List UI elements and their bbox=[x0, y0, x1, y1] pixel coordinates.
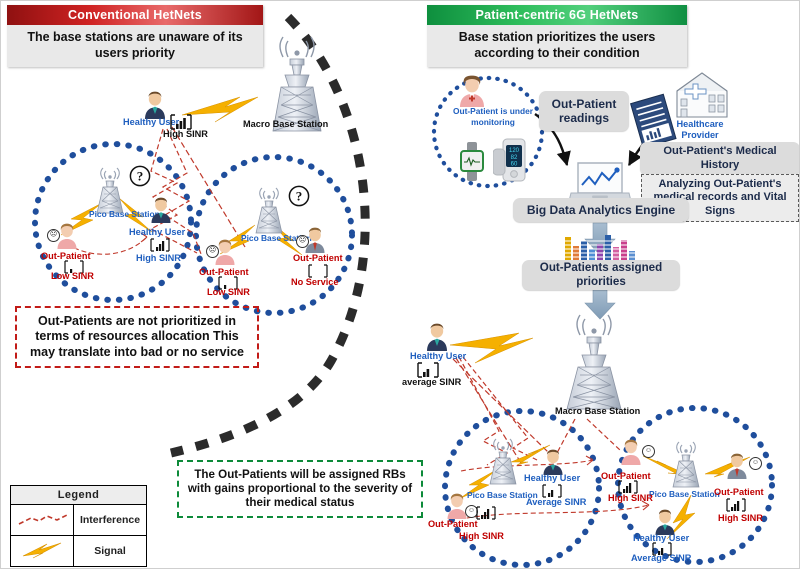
right-cell-c-pico-tower bbox=[486, 438, 520, 491]
left-top-healthy-user-avatar bbox=[142, 91, 168, 119]
right-cell-d-healthy-user-avatar bbox=[653, 509, 677, 535]
analytics-engine-box: Big Data Analytics Engine bbox=[513, 198, 689, 222]
right-cell-d-outpatient-2-avatar bbox=[725, 453, 749, 479]
left-cell-a-outpatient-sad-face-icon: ☹ bbox=[47, 229, 60, 242]
medical-history-box: Out-Patient's Medical History bbox=[640, 142, 800, 175]
right-cell-c-outpatient-signal-bars-icon bbox=[475, 505, 497, 526]
legend-title: Legend bbox=[11, 486, 146, 505]
left-cell-a-question-icon: ? bbox=[129, 165, 151, 192]
right-panel-header: Patient-centric 6G HetNets Base station … bbox=[427, 5, 687, 67]
smartwatch-device-icon bbox=[459, 141, 485, 186]
right-cell-d-outpatient-2-happy-face-icon: ☺ bbox=[749, 457, 762, 470]
interference-line-icon bbox=[11, 505, 74, 535]
right-cell-d-healthy-sinr-label: Average SINR bbox=[631, 553, 691, 563]
right-top-user-sinr-label: average SINR bbox=[402, 377, 461, 387]
blood-pressure-monitor-icon: 120 82 60 bbox=[493, 137, 527, 188]
right-cell-c-healthy-user-avatar bbox=[541, 449, 565, 475]
right-panel-title: Patient-centric 6G HetNets bbox=[427, 5, 687, 25]
outpatient-readings-box: Out-Patient readings bbox=[539, 91, 629, 131]
healthcare-provider-building-icon bbox=[673, 69, 731, 126]
right-cell-d-outpatient-1-sinr-label: High SINR bbox=[608, 493, 653, 503]
signal-lightning-icon bbox=[11, 536, 74, 566]
left-top-user-sinr-label: High SINR bbox=[163, 129, 208, 139]
right-top-healthy-user-label: Healthy User bbox=[410, 351, 466, 361]
right-cell-d-outpatient-1-avatar bbox=[619, 439, 643, 465]
left-cell-b-outpatient-2-sinr-label: No Service bbox=[291, 277, 339, 287]
healthcare-provider-label: Healthcare Provider bbox=[669, 119, 731, 141]
left-cell-a-healthy-user-label: Healthy User bbox=[129, 227, 185, 237]
left-cell-a-outpatient-sinr-label: Low SINR bbox=[51, 271, 94, 281]
monitoring-label: Out-Patient is under monitoring bbox=[450, 106, 536, 127]
right-callout-box: The Out-Patients will be assigned RBs wi… bbox=[177, 460, 423, 518]
right-cell-c-boundary bbox=[445, 411, 599, 565]
left-cell-b-outpatient-1-sad-face-icon: ☹ bbox=[206, 245, 219, 258]
legend-interference-label: Interference bbox=[74, 505, 146, 535]
left-panel-title: Conventional HetNets bbox=[7, 5, 263, 25]
left-panel-header: Conventional HetNets The base stations a… bbox=[7, 5, 263, 67]
right-cell-d-outpatient-1-happy-face-icon: ☺ bbox=[642, 445, 655, 458]
left-cell-b-question-icon: ? bbox=[288, 185, 310, 212]
legend-box: Legend Interference Signal bbox=[10, 485, 147, 567]
right-cell-c-outpatient-sinr-label: High SINR bbox=[459, 531, 504, 541]
bp-systolic-value: 120 bbox=[509, 148, 520, 154]
monitoring-nurse-avatar bbox=[457, 75, 487, 107]
left-cell-b-outpatient-2-sad-face-icon: ☹ bbox=[296, 235, 309, 248]
left-panel-subtitle: The base stations are unaware of its use… bbox=[7, 25, 263, 67]
svg-text:?: ? bbox=[296, 189, 303, 204]
left-cell-a-healthy-user-avatar bbox=[149, 197, 173, 223]
right-macro-bs-label: Macro Base Station bbox=[555, 406, 640, 416]
legend-row-signal: Signal bbox=[11, 536, 146, 566]
right-cell-c-outpatient-label: Out-Patient bbox=[428, 519, 478, 529]
right-cell-d-pico-label: Pico Base Station bbox=[649, 489, 720, 499]
right-top-healthy-user-avatar bbox=[424, 323, 450, 351]
left-cell-a-healthy-sinr-label: High SINR bbox=[136, 253, 181, 263]
right-cell-d-pico-tower bbox=[669, 441, 703, 494]
diagram-canvas: Conventional HetNets The base stations a… bbox=[0, 0, 800, 569]
right-cell-c-healthy-user-label: Healthy User bbox=[524, 473, 580, 483]
right-cell-d-outpatient-2-label: Out-Patient bbox=[714, 487, 764, 497]
right-cell-d-outpatient-2-sinr-label: High SINR bbox=[718, 513, 763, 523]
assigned-priorities-box: Out-Patients assigned priorities bbox=[522, 260, 680, 290]
legend-row-interference: Interference bbox=[11, 505, 146, 536]
svg-text:?: ? bbox=[137, 169, 144, 184]
bp-diastolic-value: 82 bbox=[511, 155, 518, 161]
right-cell-c-healthy-sinr-label: Average SINR bbox=[526, 497, 586, 507]
bp-pulse-value: 60 bbox=[511, 162, 518, 168]
legend-signal-label: Signal bbox=[74, 536, 146, 566]
left-cell-b-outpatient-2-label: Out-Patient bbox=[293, 253, 343, 263]
left-macro-bs-label: Macro Base Station bbox=[243, 119, 328, 129]
right-panel-subtitle: Base station prioritizes the users accor… bbox=[427, 25, 687, 67]
left-cell-b-outpatient-1-sinr-label: Low SINR bbox=[207, 287, 250, 297]
left-callout-box: Out-Patients are not prioritized in term… bbox=[15, 306, 259, 368]
right-macro-base-station-tower bbox=[551, 313, 637, 418]
